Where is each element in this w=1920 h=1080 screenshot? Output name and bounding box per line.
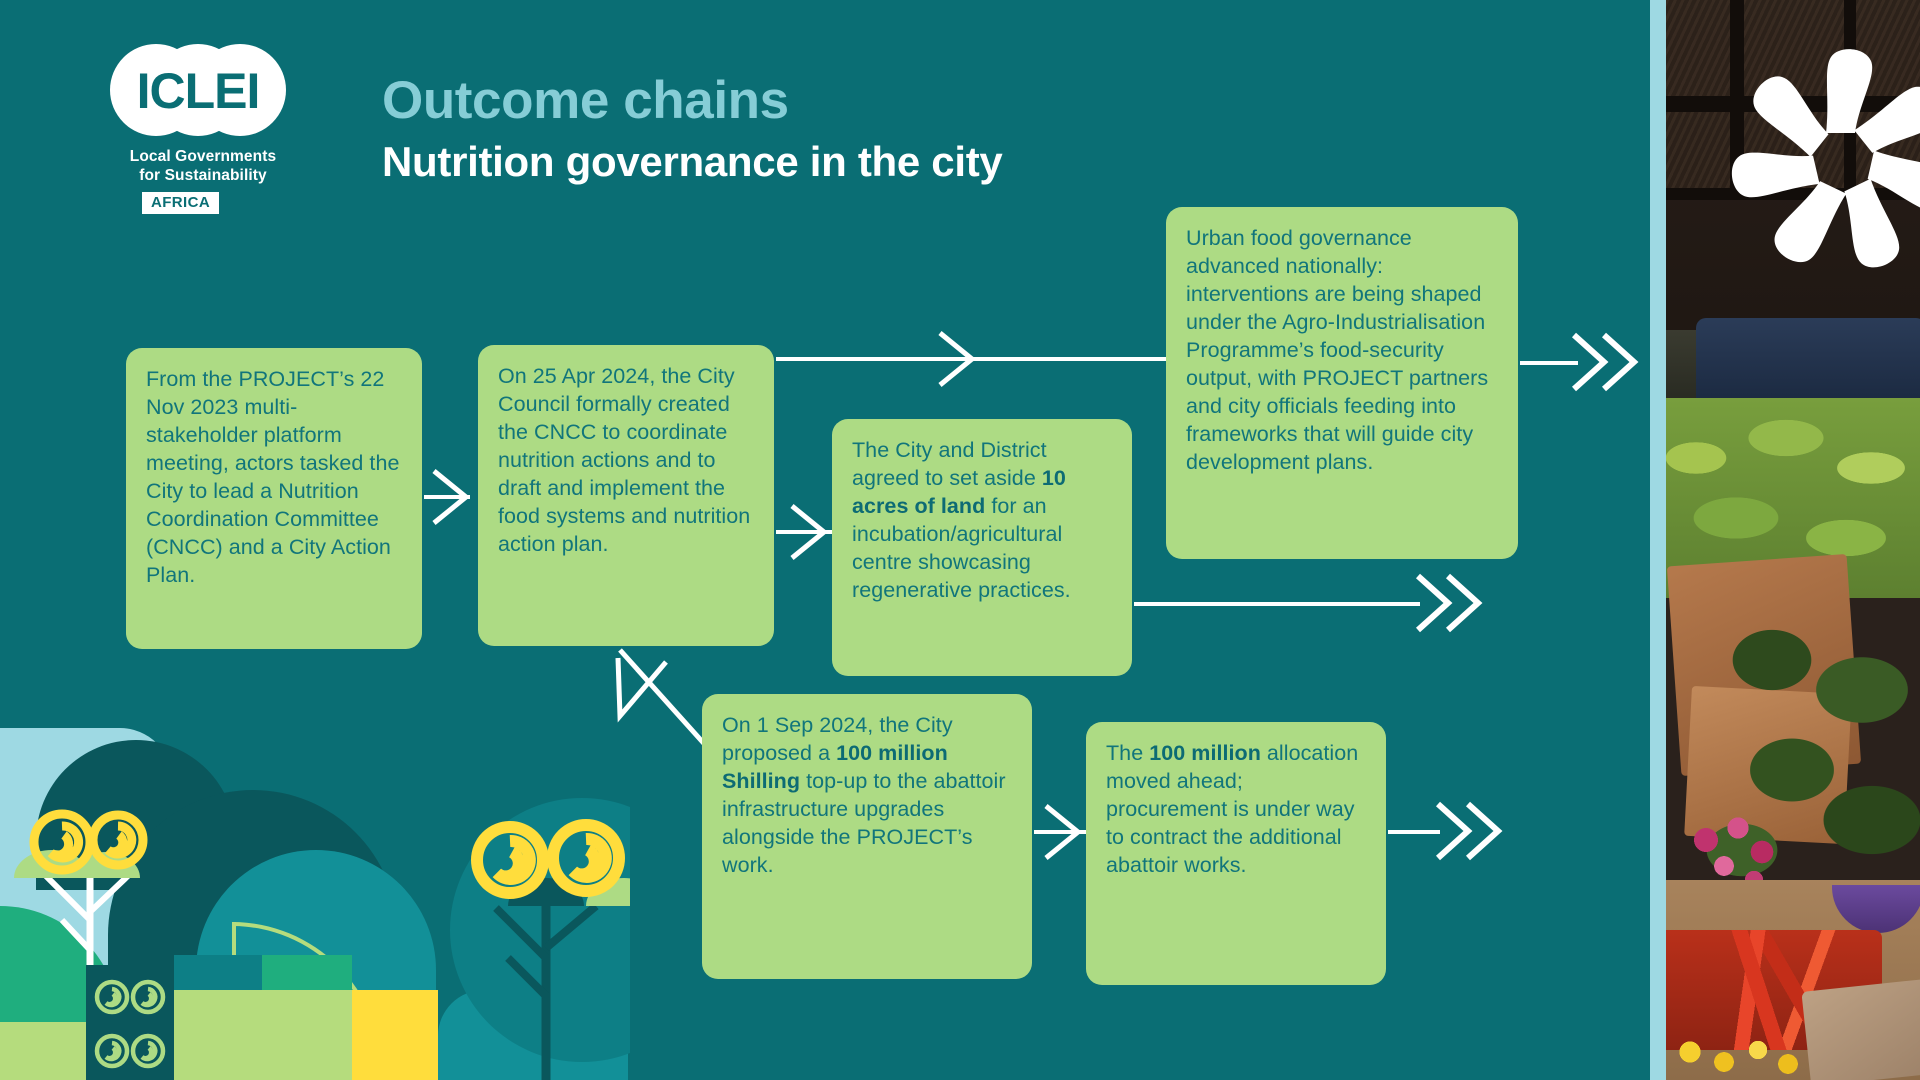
outcome-node-4[interactable]: Urban food governance advanced nationall… [1166, 207, 1518, 559]
outcome-node-1[interactable]: From the PROJECT’s 22 Nov 2023 multi-sta… [126, 348, 422, 649]
tree-illustration-left [12, 800, 172, 990]
svg-text:ICLEI: ICLEI [137, 63, 260, 119]
slide-root: ICLEI Local Governments for Sustainabili… [0, 0, 1920, 1080]
logo-region-badge: AFRICA [142, 192, 219, 214]
connector-double-chevron-n4 [1566, 327, 1646, 397]
connector-double-chevron-n6 [1430, 796, 1510, 866]
connector-arrowhead-n5-n6 [1040, 800, 1090, 864]
outcome-node-3[interactable]: The City and District agreed to set asid… [832, 419, 1132, 676]
outcome-node-5[interactable]: On 1 Sep 2024, the City proposed a 100 m… [702, 694, 1032, 979]
color-block-lightgreen-b [174, 990, 352, 1080]
connector-line-n3-end [1134, 602, 1420, 606]
decorative-artwork [0, 660, 660, 1080]
page-subtitle: Nutrition governance in the city [382, 138, 1002, 186]
outcome-node-1-text: From the PROJECT’s 22 Nov 2023 multi-sta… [146, 367, 399, 587]
connector-arrowhead-n2-n4 [934, 327, 984, 391]
photo-sack-cloth [1801, 978, 1920, 1080]
photo-accent-rail [1650, 0, 1666, 1080]
outcome-node-5-text: On 1 Sep 2024, the City proposed a 100 m… [722, 713, 1006, 877]
outcome-node-2[interactable]: On 25 Apr 2024, the City Council formall… [478, 345, 774, 646]
color-block-teal-a [174, 955, 262, 990]
spiral-pattern-group [86, 965, 174, 1080]
photo-strip [1650, 0, 1920, 1080]
connector-double-chevron-n3 [1410, 568, 1490, 638]
petal-flower-icon [1728, 46, 1920, 276]
color-block-green-a [0, 978, 86, 1022]
slide-canvas: ICLEI Local Governments for Sustainabili… [0, 0, 1650, 1080]
outcome-node-6[interactable]: The 100 million allocation moved ahead; … [1086, 722, 1386, 985]
outcome-node-2-text: On 25 Apr 2024, the City Council formall… [498, 364, 750, 556]
connector-arrowhead-n1-n2 [428, 465, 478, 529]
page-title: Outcome chains [382, 70, 789, 131]
outcome-node-3-text: The City and District agreed to set asid… [852, 438, 1071, 602]
tree-illustration-center [400, 780, 630, 1080]
connector-arrowhead-n2-n3 [786, 500, 836, 564]
photo-yellow-peppers [1666, 1022, 1816, 1080]
color-block-lightgreen-a [0, 1022, 86, 1080]
color-block-green-b [262, 955, 352, 990]
logo-tagline-line1: Local Governments [108, 148, 298, 167]
outcome-node-6-text: The 100 million allocation moved ahead; … [1106, 741, 1358, 877]
logo-tagline-line2: for Sustainability [108, 167, 298, 186]
logo-tagline: Local Governments for Sustainability [108, 148, 298, 186]
outcome-node-4-text: Urban food governance advanced nationall… [1186, 226, 1488, 474]
